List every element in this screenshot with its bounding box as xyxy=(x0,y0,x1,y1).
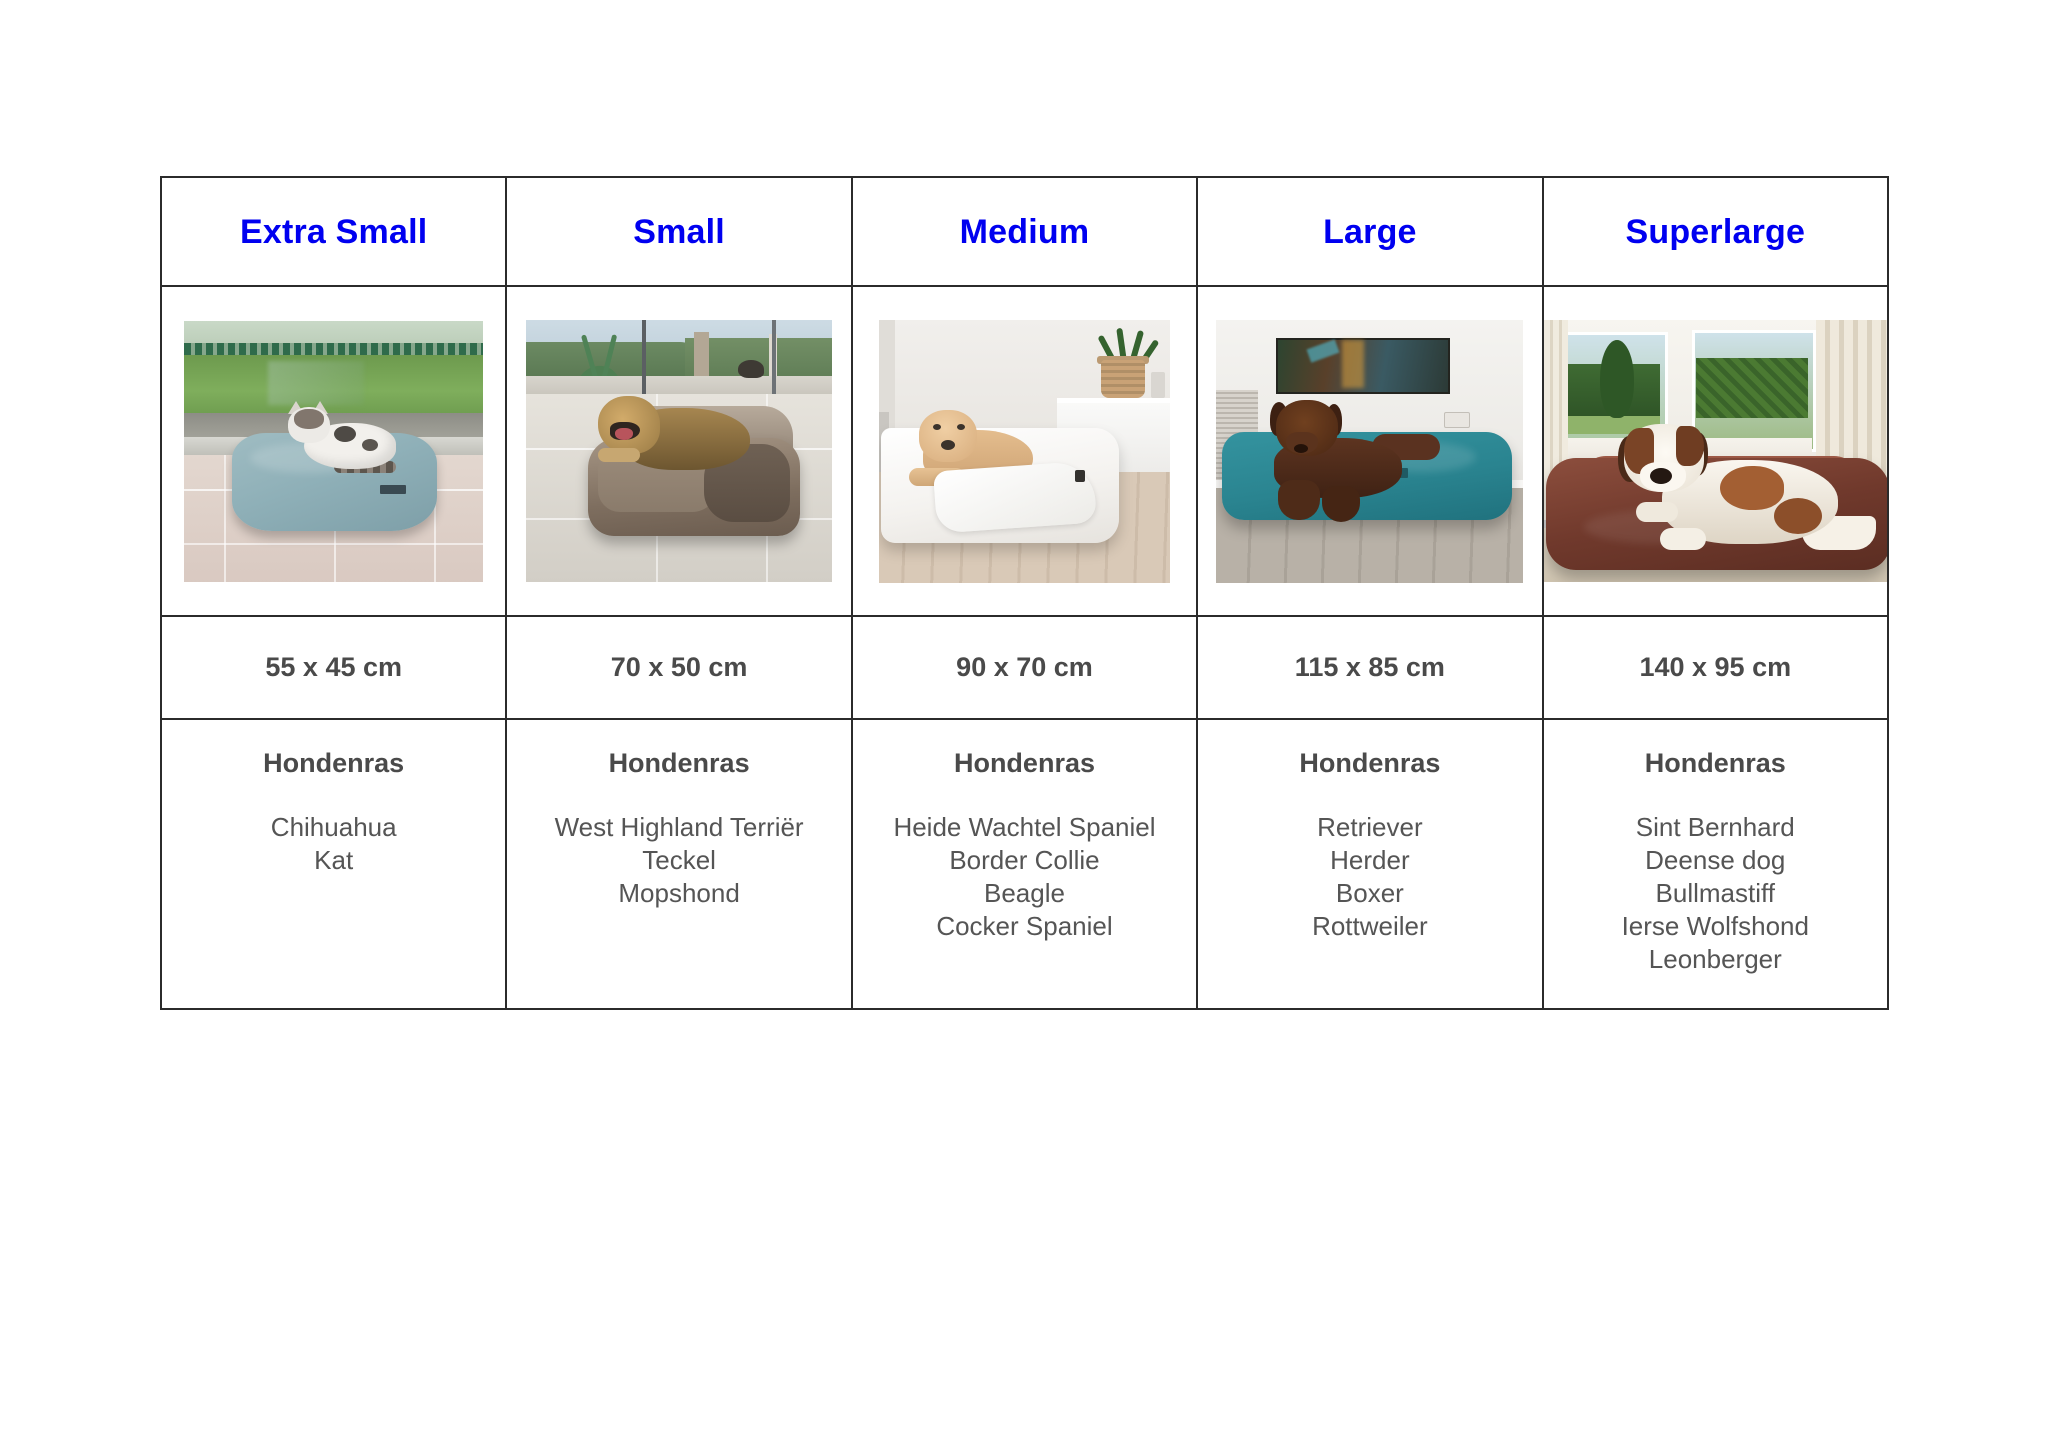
breed-item: Chihuahua xyxy=(162,811,505,844)
cell-photo-medium xyxy=(852,286,1197,616)
cell-photo-small xyxy=(506,286,851,616)
table-row-breeds: Hondenras ChihuahuaKat Hondenras West Hi… xyxy=(161,719,1888,1009)
table-row-photos xyxy=(161,286,1888,616)
cell-dimensions-extra-small: 55 x 45 cm xyxy=(161,616,506,719)
photo-wrapper xyxy=(162,321,505,582)
dog-paw xyxy=(1636,502,1678,522)
table-row-dimensions: 55 x 45 cm 70 x 50 cm 90 x 70 cm 115 x 8… xyxy=(161,616,1888,719)
breeds-title: Hondenras xyxy=(1544,750,1887,777)
dog-front-leg xyxy=(1278,480,1320,520)
cell-photo-superlarge xyxy=(1543,286,1888,616)
breeds-title: Hondenras xyxy=(162,750,505,777)
breeds-list: Heide Wachtel SpanielBorder CollieBeagle… xyxy=(853,811,1196,943)
cell-photo-large xyxy=(1197,286,1542,616)
dog-paw xyxy=(1660,528,1706,550)
wicker-plant-pot xyxy=(1101,360,1145,398)
dog-nose xyxy=(1294,444,1308,453)
breed-item: Bullmastiff xyxy=(1544,877,1887,910)
dog-bed-size-table: Extra Small Small Medium Large Superlarg… xyxy=(160,176,1889,1010)
breeds-title: Hondenras xyxy=(1198,750,1541,777)
breed-item: Border Collie xyxy=(853,844,1196,877)
cell-dimensions-large: 115 x 85 cm xyxy=(1197,616,1542,719)
cell-size-name-large: Large xyxy=(1197,177,1542,286)
breed-item: Ierse Wolfshond xyxy=(1544,910,1887,943)
dog-nose xyxy=(1650,468,1672,484)
document-page: Extra Small Small Medium Large Superlarg… xyxy=(0,0,2048,1448)
breed-item: Cocker Spaniel xyxy=(853,910,1196,943)
size-name-label: Medium xyxy=(853,215,1196,249)
breeds-list: ChihuahuaKat xyxy=(162,811,505,877)
dog-head xyxy=(919,410,977,462)
breed-item: Teckel xyxy=(507,844,850,877)
photo-wrapper xyxy=(1544,320,1887,582)
dog-paws xyxy=(598,448,640,462)
cell-size-name-small: Small xyxy=(506,177,851,286)
brand-label-tag xyxy=(380,485,406,494)
dog-coat-patch xyxy=(1774,498,1822,534)
garden-hedge xyxy=(1696,358,1808,418)
garden-tree xyxy=(1600,340,1634,418)
product-photo-medium xyxy=(879,320,1170,583)
dimensions-label: 115 x 85 cm xyxy=(1198,654,1541,681)
breed-item: Heide Wachtel Spaniel xyxy=(853,811,1196,844)
breeds-title: Hondenras xyxy=(507,750,850,777)
cell-dimensions-small: 70 x 50 cm xyxy=(506,616,851,719)
glass-reflection xyxy=(268,361,364,405)
product-photo-superlarge xyxy=(1544,320,1887,582)
table-row-size-names: Extra Small Small Medium Large Superlarg… xyxy=(161,177,1888,286)
breeds-block: Hondenras Heide Wachtel SpanielBorder Co… xyxy=(853,720,1196,943)
breed-item: Deense dog xyxy=(1544,844,1887,877)
cat-face-marking xyxy=(294,409,324,429)
product-photo-extra-small xyxy=(184,321,483,582)
breeds-title: Hondenras xyxy=(853,750,1196,777)
cabinet-top xyxy=(1057,398,1170,403)
product-photo-small xyxy=(526,320,832,582)
breeds-list: Sint BernhardDeense dogBullmastiffIerse … xyxy=(1544,811,1887,976)
wall-socket xyxy=(1444,412,1470,428)
photo-wrapper xyxy=(853,320,1196,583)
dog-face-marking xyxy=(1676,426,1704,466)
brand-label-tag xyxy=(1075,470,1085,482)
size-name-label: Superlarge xyxy=(1544,215,1887,249)
cell-breeds-large: Hondenras RetrieverHerderBoxerRottweiler xyxy=(1197,719,1542,1009)
size-name-label: Extra Small xyxy=(162,215,505,249)
cell-breeds-extra-small: Hondenras ChihuahuaKat xyxy=(161,719,506,1009)
cell-breeds-medium: Hondenras Heide Wachtel SpanielBorder Co… xyxy=(852,719,1197,1009)
breed-item: Retriever xyxy=(1198,811,1541,844)
breed-item: Boxer xyxy=(1198,877,1541,910)
photo-wrapper xyxy=(507,320,850,582)
cell-size-name-extra-small: Extra Small xyxy=(161,177,506,286)
dog-nose xyxy=(941,440,955,450)
dog-eye xyxy=(933,424,941,430)
cat-spot xyxy=(362,439,378,451)
cell-size-name-medium: Medium xyxy=(852,177,1197,286)
garden-rock xyxy=(738,360,764,378)
breeds-list: RetrieverHerderBoxerRottweiler xyxy=(1198,811,1541,943)
painting-detail xyxy=(1342,340,1364,388)
breed-item: West Highland Terriër xyxy=(507,811,850,844)
product-photo-large xyxy=(1216,320,1523,583)
breed-item: Mopshond xyxy=(507,877,850,910)
size-name-label: Large xyxy=(1198,215,1541,249)
breed-item: Herder xyxy=(1198,844,1541,877)
cell-dimensions-medium: 90 x 70 cm xyxy=(852,616,1197,719)
breeds-list: West Highland TerriërTeckelMopshond xyxy=(507,811,850,910)
breed-item: Leonberger xyxy=(1544,943,1887,976)
dimensions-label: 140 x 95 cm xyxy=(1544,654,1887,681)
cell-breeds-small: Hondenras West Highland TerriërTeckelMop… xyxy=(506,719,851,1009)
cell-photo-extra-small xyxy=(161,286,506,616)
candle-holder xyxy=(1151,372,1165,398)
tile-line xyxy=(224,455,226,582)
dog-tongue xyxy=(615,428,633,440)
dog-front-leg xyxy=(1322,486,1360,522)
cat-spot xyxy=(334,426,356,442)
breeds-block: Hondenras West Highland TerriërTeckelMop… xyxy=(507,720,850,910)
breed-item: Kat xyxy=(162,844,505,877)
dog-eye xyxy=(957,424,965,430)
breeds-block: Hondenras RetrieverHerderBoxerRottweiler xyxy=(1198,720,1541,943)
breeds-block: Hondenras Sint BernhardDeense dogBullmas… xyxy=(1544,720,1887,976)
photo-wrapper xyxy=(1198,320,1541,583)
cell-breeds-superlarge: Hondenras Sint BernhardDeense dogBullmas… xyxy=(1543,719,1888,1009)
dimensions-label: 70 x 50 cm xyxy=(507,654,850,681)
cell-dimensions-superlarge: 140 x 95 cm xyxy=(1543,616,1888,719)
breed-item: Sint Bernhard xyxy=(1544,811,1887,844)
cell-size-name-superlarge: Superlarge xyxy=(1543,177,1888,286)
size-name-label: Small xyxy=(507,215,850,249)
dimensions-label: 55 x 45 cm xyxy=(162,654,505,681)
cushion-fold xyxy=(933,460,1097,533)
dog-coat-patch xyxy=(1720,466,1784,510)
breed-item: Rottweiler xyxy=(1198,910,1541,943)
breed-item: Beagle xyxy=(853,877,1196,910)
dimensions-label: 90 x 70 cm xyxy=(853,654,1196,681)
breeds-block: Hondenras ChihuahuaKat xyxy=(162,720,505,877)
